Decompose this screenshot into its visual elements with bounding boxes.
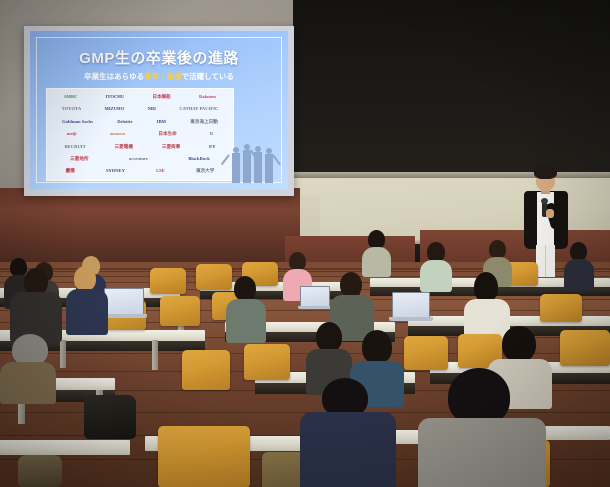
chair — [150, 268, 186, 294]
subtitle-highlight: 業界・業種 — [144, 72, 182, 81]
chair — [244, 344, 290, 380]
logo: 三菱商事 — [162, 145, 180, 150]
logo-row: 慶應 SYDNEY LSE 東京大学 — [50, 166, 230, 178]
logo-row: meiji amazon 日本生命 U — [50, 128, 230, 140]
bag — [18, 455, 62, 487]
logo: CATHAY PACIFIC — [179, 107, 218, 112]
subtitle-part-1: 卒業生はあらゆる — [84, 72, 144, 81]
logo: meiji — [67, 132, 77, 137]
lecture-hall-photo: GMP生の卒業後の進路 卒業生はあらゆる業界・業種で活躍している SMBC IT… — [0, 0, 610, 487]
logo: Deloitte — [117, 120, 132, 125]
projection-screen: GMP生の卒業後の進路 卒業生はあらゆる業界・業種で活躍している SMBC IT… — [24, 26, 294, 196]
logo: NRI — [148, 107, 156, 112]
logo: TOYOTA — [62, 107, 82, 112]
logo: accenture — [129, 157, 148, 162]
logo: 三菱電機 — [115, 145, 133, 150]
logo: 慶應 — [66, 169, 75, 174]
chair — [196, 264, 232, 290]
logo: amazon — [110, 132, 125, 137]
logo: ITOCHU — [106, 95, 125, 100]
logo: 東京海上日動 — [190, 120, 218, 125]
logo: 東京大学 — [196, 169, 214, 174]
logo-row: RECRUIT 三菱電機 三菱商事 EY — [50, 141, 230, 153]
slide-title: GMP生の卒業後の進路 — [30, 47, 288, 68]
logo-row: Goldman Sachs Deloitte IBM 東京海上日動 — [50, 116, 230, 128]
logo: SYDNEY — [106, 169, 125, 174]
presentation-slide: GMP生の卒業後の進路 卒業生はあらゆる業界・業種で活躍している SMBC IT… — [30, 31, 288, 189]
logo: 日本郵船 — [152, 95, 170, 100]
presenter-hand — [546, 209, 554, 218]
logo: 三菱地所 — [70, 157, 88, 162]
logo: IBM — [157, 120, 166, 125]
chair — [182, 350, 230, 390]
company-logo-grid: SMBC ITOCHU 日本郵船 Rakuten TOYOTA MIZUHO N… — [46, 88, 234, 181]
logo: BlackRock — [188, 157, 209, 162]
logo: SMBC — [64, 95, 77, 100]
bag — [84, 395, 136, 439]
desk-leg — [60, 340, 66, 368]
desk — [0, 440, 130, 455]
logo: RECRUIT — [64, 145, 85, 150]
logo: LSE — [156, 169, 165, 174]
subtitle-part-3: で活躍している — [182, 72, 234, 81]
wood-wall-left — [0, 188, 300, 270]
people-celebrating-illustration — [230, 139, 278, 183]
chair — [560, 330, 610, 366]
chalkboard-upper — [293, 0, 610, 178]
logo: U — [210, 132, 213, 137]
logo: Rakuten — [199, 95, 216, 100]
presenter — [516, 165, 576, 277]
logo: EY — [209, 145, 215, 150]
chair — [160, 296, 200, 326]
chair — [540, 294, 582, 322]
presenter-leg-divider — [545, 245, 546, 277]
presenter-hair — [534, 165, 557, 179]
logo: 日本生命 — [158, 132, 176, 137]
logo-row: TOYOTA MIZUHO NRI CATHAY PACIFIC — [50, 103, 230, 115]
logo-row: 三菱地所 accenture BlackRock — [50, 153, 230, 165]
logo: Goldman Sachs — [62, 120, 93, 125]
logo-row: SMBC ITOCHU 日本郵船 Rakuten — [50, 91, 230, 103]
chair — [158, 426, 250, 487]
slide-subtitle: 卒業生はあらゆる業界・業種で活躍している — [30, 71, 288, 82]
desk-leg — [152, 340, 158, 370]
microphone-head-icon — [541, 198, 548, 204]
chair — [404, 336, 448, 370]
logo: MIZUHO — [105, 107, 125, 112]
